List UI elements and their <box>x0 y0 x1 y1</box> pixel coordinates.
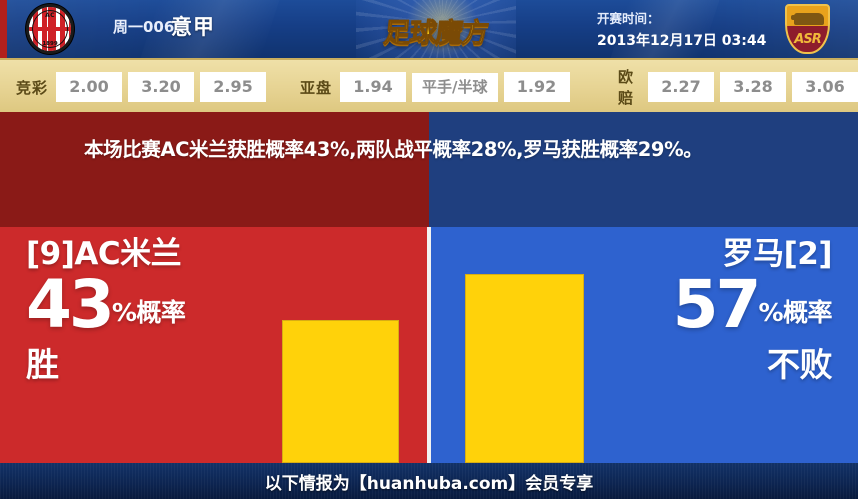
handicap-line[interactable]: 平手/半球 <box>412 73 497 102</box>
brand-logo: 足球魔方 <box>356 0 516 58</box>
footer-text: 以下情报为【huanhuba.com】会员专享 <box>265 469 594 494</box>
crest-monogram: ASR <box>787 32 828 47</box>
euro-odds-draw[interactable]: 3.28 <box>720 72 786 102</box>
handicap-value-away[interactable]: 1.92 <box>504 72 570 102</box>
odds-group-european: 欧赔 2.27 3.28 3.06 <box>618 60 858 114</box>
home-outcome-label: 胜 <box>26 348 276 381</box>
away-probability-value: 57 <box>673 266 759 343</box>
odds-group-label: 亚盘 <box>300 77 334 98</box>
odds-group-asian-handicap: 亚盘 1.94 平手/半球 1.92 <box>300 60 570 114</box>
league-name: 意甲 <box>171 11 215 41</box>
match-round: 周一006 <box>113 16 174 37</box>
probability-panels: [9]AC米兰 43%概率 胜 罗马[2] 57%概率 不败 <box>0 227 858 463</box>
home-probability-unit: %概率 <box>112 298 186 327</box>
probability-statement-band: 本场比赛AC米兰获胜概率43%,两队战平概率28%,罗马获胜概率29%。 <box>0 112 858 227</box>
handicap-value-home[interactable]: 1.94 <box>340 72 406 102</box>
odds-group-jingcai: 竞彩 2.00 3.20 2.95 <box>16 60 266 114</box>
euro-odds-home[interactable]: 2.27 <box>648 72 714 102</box>
brand-logo-text: 足球魔方 <box>356 11 516 50</box>
odds-value-away[interactable]: 2.95 <box>200 72 266 102</box>
odds-group-label: 欧赔 <box>618 66 642 108</box>
header-red-accent <box>0 0 7 58</box>
kickoff-time: 2013年12月17日 03:44 <box>597 30 766 50</box>
crest-initials: AC <box>29 12 71 19</box>
away-probability-row: 57%概率 <box>582 272 832 338</box>
home-probability-value: 43 <box>26 266 112 343</box>
statement-text: 本场比赛AC米兰获胜概率43%,两队战平概率28%,罗马获胜概率29%。 <box>84 136 784 164</box>
footer-bar: 以下情报为【huanhuba.com】会员专享 <box>0 463 858 499</box>
home-probability-row: 43%概率 <box>26 272 276 338</box>
kickoff-label: 开赛时间： <box>597 8 660 27</box>
as-roma-crest-icon: ASR <box>785 4 830 54</box>
home-probability-bar <box>282 320 399 463</box>
away-team-block: 罗马[2] 57%概率 不败 <box>582 239 832 381</box>
euro-odds-away[interactable]: 3.06 <box>792 72 858 102</box>
away-probability-bar <box>465 274 584 463</box>
odds-value-home[interactable]: 2.00 <box>56 72 122 102</box>
panel-divider <box>427 227 431 463</box>
odds-bar: 竞彩 2.00 3.20 2.95 亚盘 1.94 平手/半球 1.92 欧赔 … <box>0 58 858 116</box>
header-bar: AC 1899 周一006 意甲 足球魔方 开赛时间： 2013年12月17日 … <box>0 0 858 58</box>
odds-group-label: 竞彩 <box>16 77 50 98</box>
away-outcome-label: 不败 <box>582 348 832 381</box>
odds-value-draw[interactable]: 3.20 <box>128 72 194 102</box>
statement-left-half <box>0 112 429 227</box>
away-probability-unit: %概率 <box>758 298 832 327</box>
ac-milan-crest-icon: AC 1899 <box>26 4 74 54</box>
home-team-block: [9]AC米兰 43%概率 胜 <box>26 239 276 381</box>
statement-right-half <box>429 112 858 227</box>
match-probability-infographic: AC 1899 周一006 意甲 足球魔方 开赛时间： 2013年12月17日 … <box>0 0 858 499</box>
crest-year: 1899 <box>29 41 71 47</box>
she-wolf-icon <box>794 13 824 25</box>
